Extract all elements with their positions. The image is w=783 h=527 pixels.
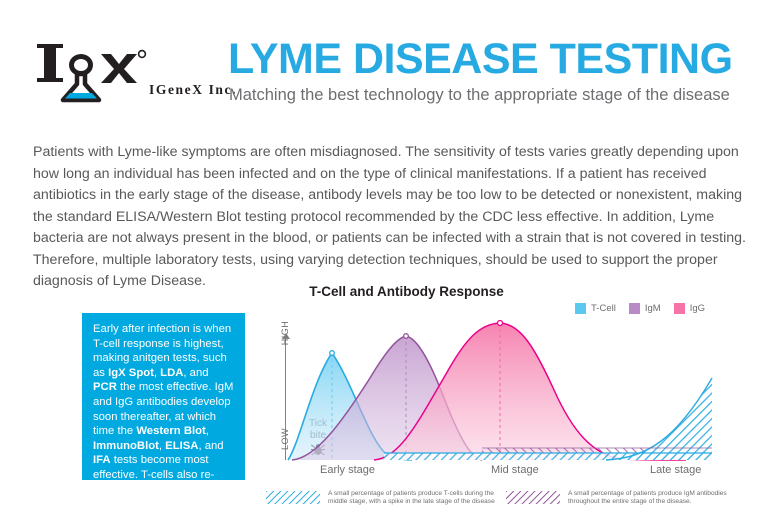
x-label-late-stage: Late stage <box>650 464 701 476</box>
page-subtitle: Matching the best technology to the appr… <box>229 86 730 105</box>
footnote-tcell-text: A small percentage of patients produce T… <box>328 490 496 507</box>
igx-flask-logo-icon <box>33 38 148 106</box>
x-label-early-stage: Early stage <box>320 464 375 476</box>
blue-diagonal-hatch-icon <box>266 491 320 504</box>
response-curves-svg <box>266 312 736 467</box>
chart-footnotes: A small percentage of patients produce T… <box>266 490 736 524</box>
page-header: IGeneX Inc. LYME DISEASE TESTING Matchin… <box>0 0 783 125</box>
chart-title: T-Cell and Antibody Response <box>0 284 783 299</box>
brand-logo: IGeneX Inc. <box>33 38 213 108</box>
x-label-mid-stage: Mid stage <box>491 464 539 476</box>
footnote-igm-text: A small percentage of patients produce I… <box>568 490 736 507</box>
chart-plot-area: HIGH LOW Tick bite <box>266 312 736 482</box>
purple-diagonal-hatch-icon <box>506 491 560 504</box>
callout-text: Early after infection is when T-cell res… <box>93 322 234 512</box>
footnote-tcell: A small percentage of patients produce T… <box>266 490 496 507</box>
peak-point-igm <box>404 334 409 339</box>
company-name: IGeneX Inc. <box>149 82 237 98</box>
x-axis-labels: Early stage Mid stage Late stage <box>266 464 736 480</box>
intro-paragraph: Patients with Lyme-like symptoms are oft… <box>33 142 749 293</box>
peak-point-igg <box>498 321 503 326</box>
callout-box: Early after infection is when T-cell res… <box>82 313 245 480</box>
footnote-igm: A small percentage of patients produce I… <box>506 490 736 507</box>
peak-point-tcell <box>330 351 335 356</box>
page-title: LYME DISEASE TESTING <box>228 36 733 83</box>
